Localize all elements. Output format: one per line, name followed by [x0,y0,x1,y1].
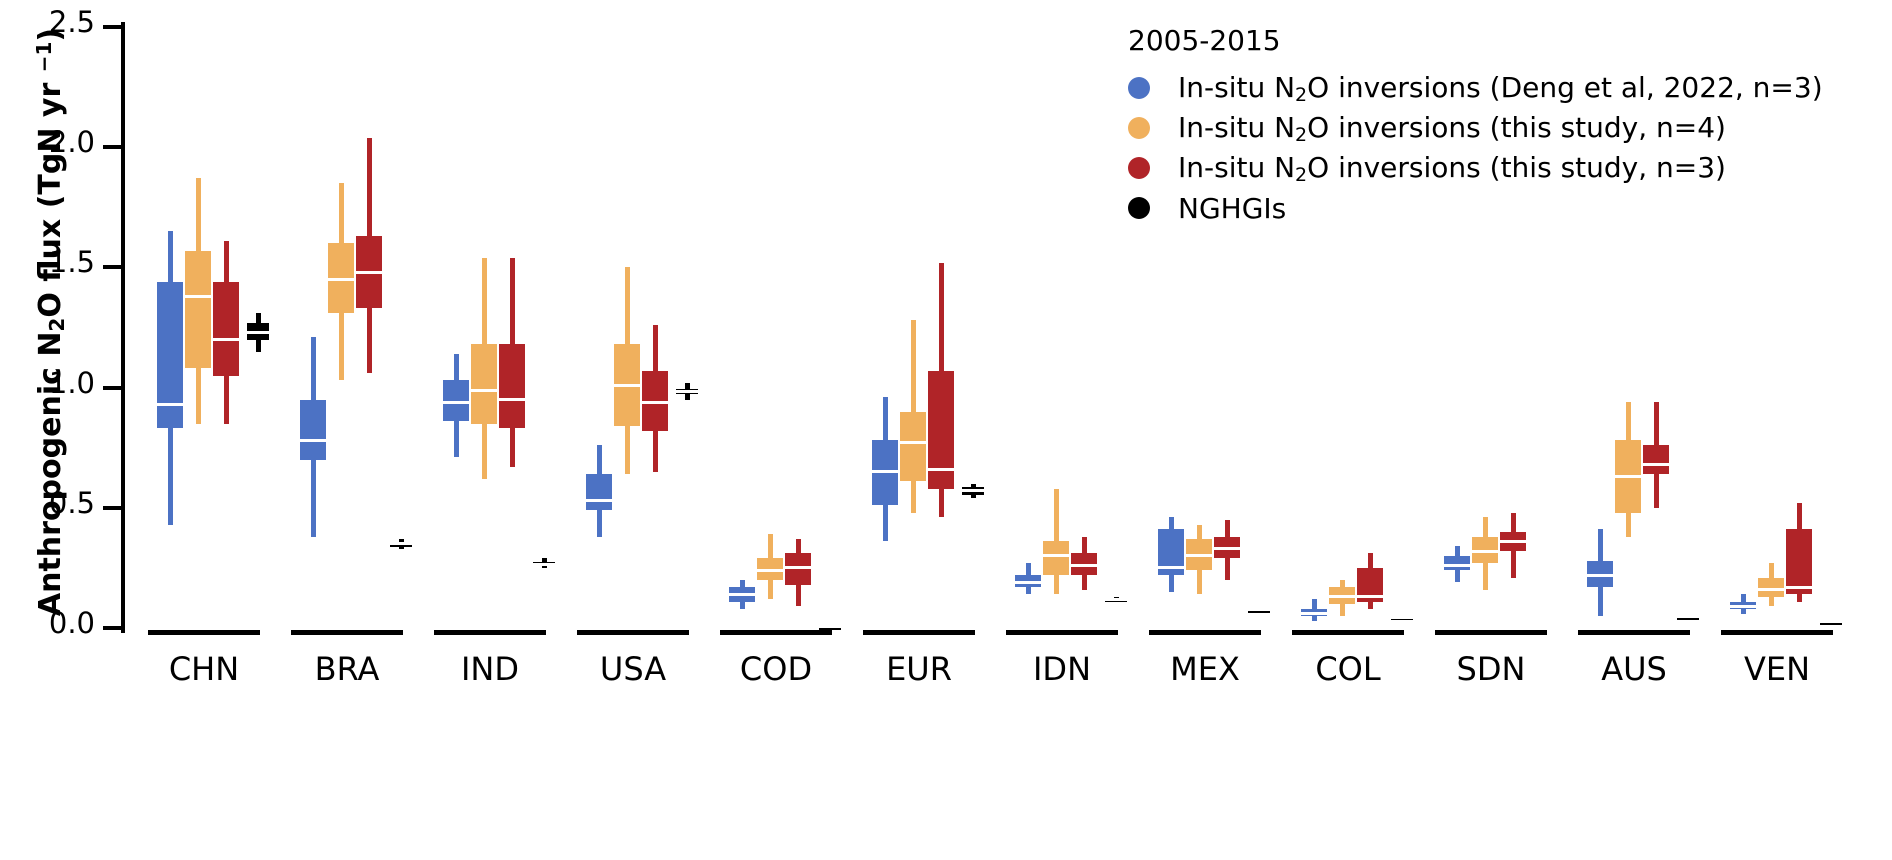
box-body [1786,529,1812,594]
y-axis-tick [103,25,121,29]
box-median-line [328,278,354,281]
box-median-line [1186,554,1212,557]
box-body [499,344,525,428]
legend: 2005-2015 In-situ N2O inversions (Deng e… [1128,24,1888,228]
box-body [900,412,926,482]
box-median-line [185,295,211,298]
legend-circle-marker-icon [1128,157,1150,179]
y-axis-tick-label: 0.0 [0,609,95,638]
y-axis-tick-label: 2.5 [0,8,95,37]
x-axis-tick-label-sdn: SDN [1425,650,1557,688]
x-axis-group-bar [148,630,260,635]
box-median-line [1015,581,1041,584]
y-axis-tick [103,626,121,630]
box-median-line [676,390,698,393]
x-axis-tick-label-cod: COD [710,650,842,688]
box-median-line [785,566,811,569]
x-axis-tick-label-chn: CHN [138,650,270,688]
legend-item-label: In-situ N2O inversions (this study, n=3) [1178,151,1726,186]
legend-item[interactable]: In-situ N2O inversions (this study, n=3) [1128,148,1888,188]
box-body [1043,541,1069,575]
x-axis-tick-label-usa: USA [567,650,699,688]
x-axis-tick-label-idn: IDN [996,650,1128,688]
box-median-line [213,338,239,341]
box-body [586,474,612,510]
legend-circle-marker-icon [1128,197,1150,219]
box-median-line [1615,475,1641,478]
x-axis-group-bar [434,630,546,635]
x-axis-group-bar [1435,630,1547,635]
x-axis-tick-label-mex: MEX [1139,650,1271,688]
box-median-line [1357,595,1383,598]
box-body [928,371,954,489]
box-median-line [1786,586,1812,589]
x-axis-group-bar [1292,630,1404,635]
x-axis-group-bar [863,630,975,635]
legend-item[interactable]: In-situ N2O inversions (Deng et al, 2022… [1128,68,1888,108]
x-axis-tick-label-bra: BRA [281,650,413,688]
y-axis-tick-label: 1.0 [0,369,95,398]
box-median-line [1301,612,1327,615]
box-median-line [1214,547,1240,550]
y-axis-title: Anthropogenic N2O flux (TgN yr −1) [22,0,66,652]
x-axis-group-bar [291,630,403,635]
box-median-line [471,389,497,392]
box-median-line [1043,554,1069,557]
legend-rows: In-situ N2O inversions (Deng et al, 2022… [1128,68,1888,228]
x-axis-group-bar [1149,630,1261,635]
box-median-line [157,403,183,406]
box-median-line [1472,550,1498,553]
y-axis-tick-label: 2.0 [0,128,95,157]
box-median-line [962,489,984,492]
box-median-line [1391,616,1413,619]
box-median-line [533,563,555,566]
x-axis-tick-label-ven: VEN [1711,650,1843,688]
box-median-line [1643,463,1669,466]
box-body [471,344,497,423]
y-axis-tick [103,506,121,510]
box-median-line [443,401,469,404]
box-median-line [1071,564,1097,567]
box-median-line [819,625,841,628]
legend-title: 2005-2015 [1128,24,1888,57]
box-median-line [1444,564,1470,567]
legend-item[interactable]: NGHGIs [1128,188,1888,228]
box-median-line [586,499,612,502]
x-axis-group-bar [1006,630,1118,635]
box-median-line [1587,574,1613,577]
box-median-line [614,384,640,387]
legend-item-label: In-situ N2O inversions (this study, n=4) [1178,111,1726,146]
box-median-line [300,439,326,442]
x-axis-group-bar [1721,630,1833,635]
box-median-line [1730,605,1756,608]
box-median-line [729,593,755,596]
x-axis-tick-label-aus: AUS [1568,650,1700,688]
box-median-line [390,542,412,545]
y-axis-tick-label: 1.5 [0,248,95,277]
y-axis-tick-label: 0.5 [0,489,95,518]
box-median-line [1677,615,1699,618]
y-axis-tick [103,145,121,149]
x-axis-group-bar [720,630,832,635]
box-median-line [757,569,783,572]
x-axis-group-bar [577,630,689,635]
legend-circle-marker-icon [1128,117,1150,139]
box-median-line [499,398,525,401]
legend-circle-marker-icon [1128,77,1150,99]
y-axis-tick [103,386,121,390]
box-body [213,282,239,376]
box-median-line [1248,608,1270,611]
box-median-line [900,441,926,444]
box-body [185,251,211,369]
y-axis-title-part2: O flux (TgN yr [33,72,68,317]
y-axis-title-sub: 2 [45,318,69,332]
x-axis-group-bar [1578,630,1690,635]
box-median-line [1105,598,1127,601]
legend-item-label: NGHGIs [1178,192,1286,225]
box-median-line [356,271,382,274]
box-median-line [872,470,898,473]
x-axis-tick-label-eur: EUR [853,650,985,688]
chart-root: Anthropogenic N2O flux (TgN yr −1) 0.00.… [0,0,1892,860]
x-axis-tick-label-ind: IND [424,650,556,688]
box-median-line [1500,540,1526,543]
box-median-line [928,468,954,471]
legend-item[interactable]: In-situ N2O inversions (this study, n=4) [1128,108,1888,148]
box-body [157,282,183,429]
box-body [1643,445,1669,474]
box-median-line [1758,588,1784,591]
box-median-line [642,401,668,404]
y-axis-tick [103,265,121,269]
box-body [300,400,326,460]
x-axis-tick-label-col: COL [1282,650,1414,688]
box-median-line [1329,595,1355,598]
legend-item-label: In-situ N2O inversions (Deng et al, 2022… [1178,71,1823,106]
box-median-line [247,331,269,334]
box-median-line [1158,566,1184,569]
box-median-line [1820,620,1842,623]
y-axis-title-sup: −1 [32,42,56,73]
